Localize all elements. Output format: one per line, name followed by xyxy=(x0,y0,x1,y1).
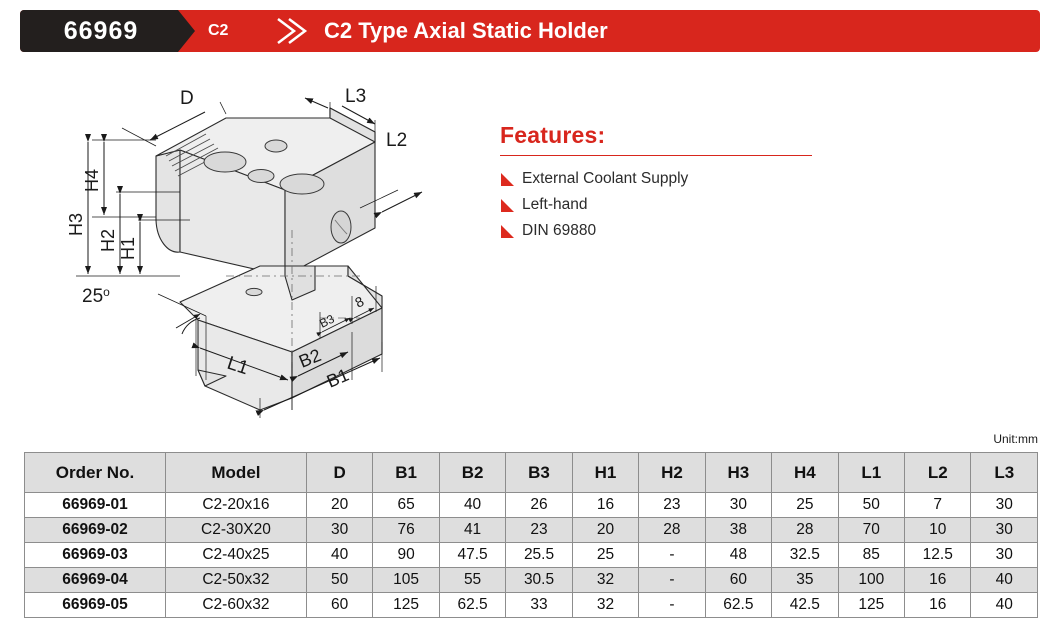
cell-d: 20 xyxy=(306,493,372,518)
triangle-bullet-icon xyxy=(500,198,516,213)
features-section: Features: External Coolant Supply Left-h… xyxy=(500,122,830,248)
cell-h4: 42.5 xyxy=(772,593,838,618)
cell-b3: 25.5 xyxy=(506,543,572,568)
column-header-l3: L3 xyxy=(971,453,1038,493)
cell-l2: 16 xyxy=(905,593,971,618)
cell-l2: 7 xyxy=(905,493,971,518)
table-row: 66969-03 C2-40x25 40 90 47.5 25.5 25 - 4… xyxy=(25,543,1038,568)
cell-l3: 40 xyxy=(971,568,1038,593)
cell-l3: 40 xyxy=(971,593,1038,618)
column-header-h3: H3 xyxy=(705,453,771,493)
cell-b3: 23 xyxy=(506,518,572,543)
cell-order-no: 66969-05 xyxy=(25,593,166,618)
cell-h3: 60 xyxy=(705,568,771,593)
chevron-right-icon xyxy=(270,16,310,46)
column-header-b2: B2 xyxy=(439,453,505,493)
series-label: C2 xyxy=(208,10,228,52)
cell-h1: 32 xyxy=(572,593,638,618)
cell-h2: 28 xyxy=(639,518,705,543)
cell-b1: 65 xyxy=(373,493,439,518)
cell-l1: 70 xyxy=(838,518,904,543)
feature-label: DIN 69880 xyxy=(522,222,596,240)
dimension-label-h1: H1 xyxy=(118,237,138,260)
list-item: External Coolant Supply xyxy=(500,170,830,188)
dimension-label-angle: 25o xyxy=(82,285,110,307)
product-code-tag: 66969 xyxy=(20,10,178,52)
product-code-text: 66969 xyxy=(60,19,139,44)
cell-order-no: 66969-01 xyxy=(25,493,166,518)
triangle-bullet-icon xyxy=(500,224,516,239)
cell-model: C2-20x16 xyxy=(165,493,306,518)
cell-h2: 23 xyxy=(639,493,705,518)
column-header-d: D xyxy=(306,453,372,493)
cell-h3: 30 xyxy=(705,493,771,518)
cell-b2: 47.5 xyxy=(439,543,505,568)
table-row: 66969-02 C2-30X20 30 76 41 23 20 28 38 2… xyxy=(25,518,1038,543)
cell-l3: 30 xyxy=(971,493,1038,518)
cell-b3: 26 xyxy=(506,493,572,518)
cell-h4: 28 xyxy=(772,518,838,543)
cell-h2: - xyxy=(639,543,705,568)
cell-l3: 30 xyxy=(971,518,1038,543)
cell-l2: 12.5 xyxy=(905,543,971,568)
cell-h4: 32.5 xyxy=(772,543,838,568)
features-heading: Features: xyxy=(500,122,830,149)
cell-h1: 16 xyxy=(572,493,638,518)
cell-b2: 40 xyxy=(439,493,505,518)
dimension-label-d: D xyxy=(180,88,194,109)
list-item: DIN 69880 xyxy=(500,222,830,240)
unit-label: Unit:mm xyxy=(993,432,1038,446)
feature-label: Left-hand xyxy=(522,196,588,214)
table-row: 66969-05 C2-60x32 60 125 62.5 33 32 - 62… xyxy=(25,593,1038,618)
cell-h2: - xyxy=(639,593,705,618)
cell-l3: 30 xyxy=(971,543,1038,568)
cell-h3: 48 xyxy=(705,543,771,568)
cell-model: C2-40x25 xyxy=(165,543,306,568)
cell-d: 50 xyxy=(306,568,372,593)
cell-order-no: 66969-04 xyxy=(25,568,166,593)
column-header-h1: H1 xyxy=(572,453,638,493)
column-header-l2: L2 xyxy=(905,453,971,493)
table-row: 66969-04 C2-50x32 50 105 55 30.5 32 - 60… xyxy=(25,568,1038,593)
cell-h1: 20 xyxy=(572,518,638,543)
cell-order-no: 66969-02 xyxy=(25,518,166,543)
cell-b3: 33 xyxy=(506,593,572,618)
dimension-label-l2: L2 xyxy=(386,130,407,151)
dimension-label-l3: L3 xyxy=(345,86,366,107)
cell-model: C2-30X20 xyxy=(165,518,306,543)
cell-h2: - xyxy=(639,568,705,593)
cell-order-no: 66969-03 xyxy=(25,543,166,568)
cell-l1: 50 xyxy=(838,493,904,518)
cell-h3: 38 xyxy=(705,518,771,543)
column-header-order-no: Order No. xyxy=(25,453,166,493)
page-header-banner: 66969 C2 C2 Type Axial Static Holder xyxy=(20,10,1040,52)
cell-l2: 16 xyxy=(905,568,971,593)
cell-b1: 90 xyxy=(373,543,439,568)
column-header-l1: L1 xyxy=(838,453,904,493)
cell-l1: 85 xyxy=(838,543,904,568)
cell-model: C2-50x32 xyxy=(165,568,306,593)
column-header-b3: B3 xyxy=(506,453,572,493)
cell-b1: 105 xyxy=(373,568,439,593)
cell-h1: 32 xyxy=(572,568,638,593)
cell-b3: 30.5 xyxy=(506,568,572,593)
cell-l2: 10 xyxy=(905,518,971,543)
dimension-label-h4: H4 xyxy=(82,169,102,192)
dimension-label-h2: H2 xyxy=(98,229,118,252)
cell-b1: 125 xyxy=(373,593,439,618)
column-header-model: Model xyxy=(165,453,306,493)
cell-b2: 55 xyxy=(439,568,505,593)
specification-table: Order No. Model D B1 B2 B3 H1 H2 H3 H4 L… xyxy=(24,452,1038,618)
column-header-h2: H2 xyxy=(639,453,705,493)
cell-b1: 76 xyxy=(373,518,439,543)
holder-body-geometry xyxy=(156,108,382,410)
cell-d: 40 xyxy=(306,543,372,568)
list-item: Left-hand xyxy=(500,196,830,214)
cell-b2: 62.5 xyxy=(439,593,505,618)
cell-l1: 125 xyxy=(838,593,904,618)
page-title: C2 Type Axial Static Holder xyxy=(324,10,608,52)
column-header-h4: H4 xyxy=(772,453,838,493)
table-header-row: Order No. Model D B1 B2 B3 H1 H2 H3 H4 L… xyxy=(25,453,1038,493)
product-technical-drawing: D H4 H3 H2 H1 L3 xyxy=(30,80,470,420)
dimension-label-h3: H3 xyxy=(66,213,86,236)
feature-label: External Coolant Supply xyxy=(522,170,688,188)
cell-d: 60 xyxy=(306,593,372,618)
cell-h3: 62.5 xyxy=(705,593,771,618)
cell-d: 30 xyxy=(306,518,372,543)
product-spec-page: 66969 C2 C2 Type Axial Static Holder xyxy=(0,0,1064,636)
cell-h4: 35 xyxy=(772,568,838,593)
column-header-b1: B1 xyxy=(373,453,439,493)
cell-l1: 100 xyxy=(838,568,904,593)
cell-h4: 25 xyxy=(772,493,838,518)
triangle-bullet-icon xyxy=(500,172,516,187)
side-bore xyxy=(331,211,351,243)
features-divider xyxy=(500,155,812,156)
cell-h1: 25 xyxy=(572,543,638,568)
cell-model: C2-60x32 xyxy=(165,593,306,618)
table-row: 66969-01 C2-20x16 20 65 40 26 16 23 30 2… xyxy=(25,493,1038,518)
cell-b2: 41 xyxy=(439,518,505,543)
